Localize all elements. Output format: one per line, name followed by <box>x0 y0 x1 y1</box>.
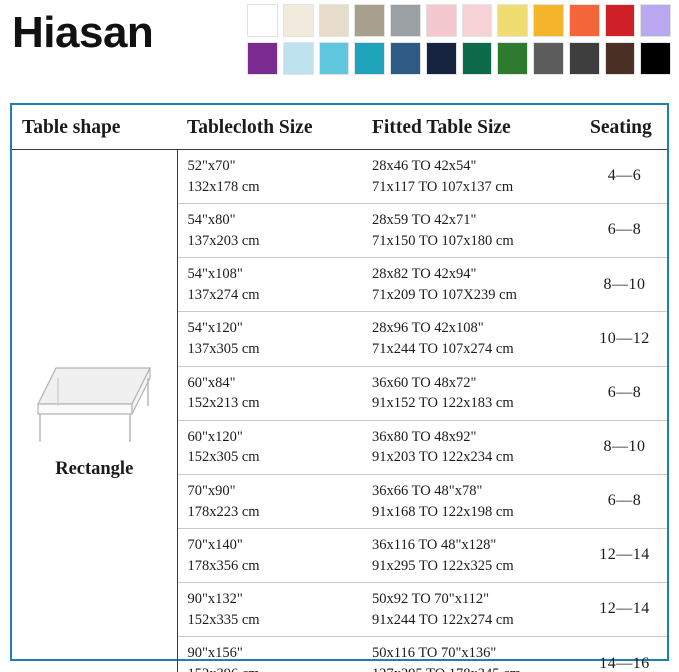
seating-cell: 14—16 <box>582 637 667 672</box>
seating-cell: 8—10 <box>582 258 667 312</box>
fitted-size-inches: 36x66 TO 48"x78" <box>372 481 582 502</box>
tablecloth-size-inches: 52"x70" <box>188 156 363 177</box>
swatch-teal[interactable] <box>354 42 385 75</box>
column-header-shape: Table shape <box>12 105 177 150</box>
fitted-size-cm: 71x150 TO 107x180 cm <box>372 231 582 252</box>
tablecloth-size-cm: 152x305 cm <box>188 447 363 468</box>
fitted-size-inches: 28x59 TO 42x71" <box>372 210 582 231</box>
swatch-light-yellow[interactable] <box>497 4 528 37</box>
tablecloth-size-cm: 137x305 cm <box>188 339 363 360</box>
swatch-steel-blue[interactable] <box>390 42 421 75</box>
swatch-purple[interactable] <box>247 42 278 75</box>
fitted-table-size-cell: 28x59 TO 42x71"71x150 TO 107x180 cm <box>362 204 582 258</box>
fitted-size-cm: 71x244 TO 107x274 cm <box>372 339 582 360</box>
shape-cell: Rectangle <box>12 150 177 672</box>
tablecloth-size-cell: 60"x84"152x213 cm <box>177 366 362 420</box>
size-chart-table: Table shape Tablecloth Size Fitted Table… <box>12 105 667 672</box>
fitted-size-inches: 36x60 TO 48x72" <box>372 373 582 394</box>
swatch-navy[interactable] <box>426 42 457 75</box>
seating-cell: 12—14 <box>582 529 667 583</box>
rectangle-table-icon <box>26 358 162 450</box>
swatch-row-2 <box>247 42 671 75</box>
tablecloth-size-inches: 54"x80" <box>188 210 363 231</box>
fitted-table-size-cell: 28x46 TO 42x54"71x117 TO 107x137 cm <box>362 150 582 204</box>
tablecloth-size-cell: 54"x80"137x203 cm <box>177 204 362 258</box>
swatch-lavender[interactable] <box>640 4 671 37</box>
seating-cell: 6—8 <box>582 366 667 420</box>
tablecloth-size-cell: 90"x132"152x335 cm <box>177 583 362 637</box>
fitted-table-size-cell: 36x60 TO 48x72"91x152 TO 122x183 cm <box>362 366 582 420</box>
column-header-tablecloth-size: Tablecloth Size <box>177 105 362 150</box>
shape-label: Rectangle <box>12 456 177 482</box>
swatch-aqua[interactable] <box>319 42 350 75</box>
fitted-size-cm: 91x295 TO 122x325 cm <box>372 556 582 577</box>
swatch-red[interactable] <box>605 4 636 37</box>
tablecloth-size-cell: 70"x90"178x223 cm <box>177 474 362 528</box>
table-header-row: Table shape Tablecloth Size Fitted Table… <box>12 105 667 150</box>
tablecloth-size-cell: 60"x120"152x305 cm <box>177 420 362 474</box>
fitted-size-cm: 71x117 TO 107x137 cm <box>372 177 582 198</box>
tablecloth-size-inches: 60"x120" <box>188 427 363 448</box>
fitted-size-inches: 36x116 TO 48"x128" <box>372 535 582 556</box>
tablecloth-size-inches: 70"x140" <box>188 535 363 556</box>
fitted-size-cm: 127x295 TO 178x345 cm <box>372 664 582 672</box>
brand-logo: Hiasan <box>12 8 153 58</box>
size-chart-page: Hiasan Table shape Tablecloth Size Fitte… <box>0 0 679 672</box>
fitted-table-size-cell: 36x66 TO 48"x78"91x168 TO 122x198 cm <box>362 474 582 528</box>
fitted-size-cm: 91x168 TO 122x198 cm <box>372 502 582 523</box>
seating-cell: 8—10 <box>582 420 667 474</box>
fitted-table-size-cell: 36x80 TO 48x92"91x203 TO 122x234 cm <box>362 420 582 474</box>
tablecloth-size-cm: 152x213 cm <box>188 393 363 414</box>
tablecloth-size-cell: 70"x140"178x356 cm <box>177 529 362 583</box>
table-row: Rectangle52"x70"132x178 cm28x46 TO 42x54… <box>12 150 667 204</box>
column-header-seating: Seating <box>582 105 667 150</box>
tablecloth-size-cell: 52"x70"132x178 cm <box>177 150 362 204</box>
tablecloth-size-cm: 137x274 cm <box>188 285 363 306</box>
seating-cell: 12—14 <box>582 583 667 637</box>
fitted-table-size-cell: 28x82 TO 42x94"71x209 TO 107X239 cm <box>362 258 582 312</box>
tablecloth-size-cell: 90"x156"152x396 cm <box>177 637 362 672</box>
fitted-table-size-cell: 50x92 TO 70"x112"91x244 TO 122x274 cm <box>362 583 582 637</box>
tablecloth-size-inches: 54"x120" <box>188 318 363 339</box>
tablecloth-size-inches: 90"x132" <box>188 589 363 610</box>
fitted-size-inches: 36x80 TO 48x92" <box>372 427 582 448</box>
swatch-light-blue[interactable] <box>283 42 314 75</box>
fitted-size-inches: 50x92 TO 70"x112" <box>372 589 582 610</box>
header: Hiasan <box>0 0 679 96</box>
swatch-dark-gray[interactable] <box>533 42 564 75</box>
swatch-gray[interactable] <box>390 4 421 37</box>
tablecloth-size-cm: 152x335 cm <box>188 610 363 631</box>
swatch-taupe[interactable] <box>354 4 385 37</box>
seating-cell: 4—6 <box>582 150 667 204</box>
fitted-size-inches: 28x46 TO 42x54" <box>372 156 582 177</box>
tablecloth-size-cm: 132x178 cm <box>188 177 363 198</box>
seating-cell: 10—12 <box>582 312 667 366</box>
swatch-beige[interactable] <box>319 4 350 37</box>
fitted-size-cm: 71x209 TO 107X239 cm <box>372 285 582 306</box>
tablecloth-size-inches: 90"x156" <box>188 643 363 664</box>
fitted-table-size-cell: 50x116 TO 70"x136"127x295 TO 178x345 cm <box>362 637 582 672</box>
fitted-table-size-cell: 36x116 TO 48"x128"91x295 TO 122x325 cm <box>362 529 582 583</box>
fitted-table-size-cell: 28x96 TO 42x108"71x244 TO 107x274 cm <box>362 312 582 366</box>
swatch-orange[interactable] <box>569 4 600 37</box>
swatch-light-pink[interactable] <box>426 4 457 37</box>
tablecloth-size-cell: 54"x120"137x305 cm <box>177 312 362 366</box>
swatch-white[interactable] <box>247 4 278 37</box>
seating-cell: 6—8 <box>582 204 667 258</box>
table-body: Rectangle52"x70"132x178 cm28x46 TO 42x54… <box>12 150 667 672</box>
fitted-size-inches: 50x116 TO 70"x136" <box>372 643 582 664</box>
color-swatch-palette <box>247 4 671 80</box>
fitted-size-cm: 91x244 TO 122x274 cm <box>372 610 582 631</box>
swatch-hunter-green[interactable] <box>462 42 493 75</box>
tablecloth-size-cm: 178x223 cm <box>188 502 363 523</box>
swatch-row-1 <box>247 4 671 37</box>
size-chart-card: Table shape Tablecloth Size Fitted Table… <box>10 103 669 661</box>
swatch-charcoal[interactable] <box>569 42 600 75</box>
tablecloth-size-cm: 152x396 cm <box>188 664 363 672</box>
swatch-blush[interactable] <box>462 4 493 37</box>
tablecloth-size-inches: 60"x84" <box>188 373 363 394</box>
swatch-forest-green[interactable] <box>497 42 528 75</box>
tablecloth-size-cm: 137x203 cm <box>188 231 363 252</box>
fitted-size-cm: 91x203 TO 122x234 cm <box>372 447 582 468</box>
seating-cell: 6—8 <box>582 474 667 528</box>
fitted-size-cm: 91x152 TO 122x183 cm <box>372 393 582 414</box>
fitted-size-inches: 28x96 TO 42x108" <box>372 318 582 339</box>
tablecloth-size-cell: 54"x108"137x274 cm <box>177 258 362 312</box>
fitted-size-inches: 28x82 TO 42x94" <box>372 264 582 285</box>
tablecloth-size-inches: 54"x108" <box>188 264 363 285</box>
swatch-dark-brown[interactable] <box>605 42 636 75</box>
column-header-fitted-table-size: Fitted Table Size <box>362 105 582 150</box>
tablecloth-size-cm: 178x356 cm <box>188 556 363 577</box>
swatch-ivory[interactable] <box>283 4 314 37</box>
tablecloth-size-inches: 70"x90" <box>188 481 363 502</box>
swatch-black[interactable] <box>640 42 671 75</box>
swatch-gold[interactable] <box>533 4 564 37</box>
